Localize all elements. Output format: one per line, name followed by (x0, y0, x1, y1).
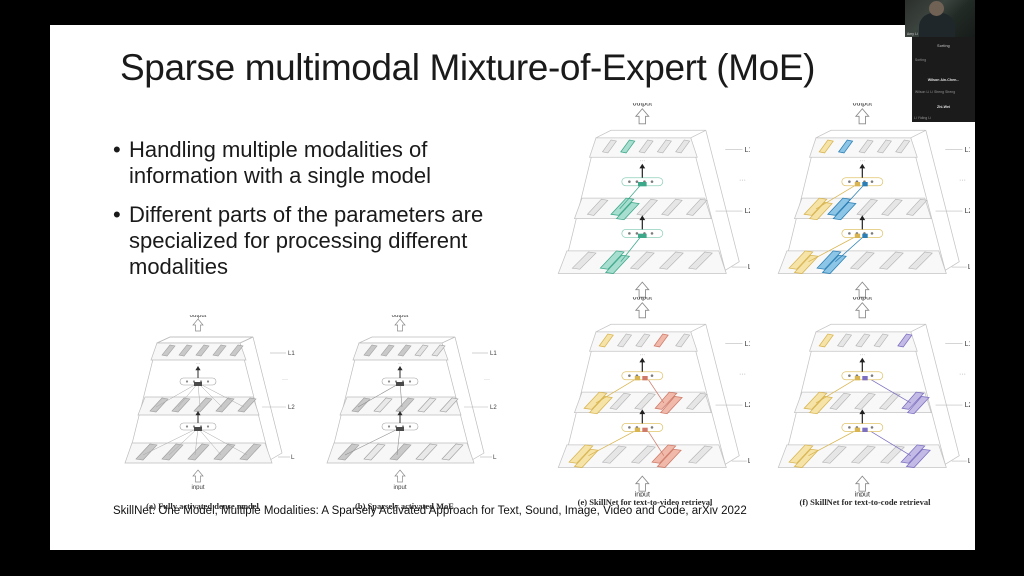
figure-d-svg: ··· output L12 L2 L1 ··· (760, 103, 970, 303)
figure-c-label-l1: L1 (748, 264, 750, 271)
figure-b-output-label: output (392, 315, 409, 319)
participant-list-panel[interactable]: Sorting Sorting Wilson Ain-Chen... Wilso… (912, 37, 975, 122)
figure-f-label-l1: L1 (968, 458, 970, 465)
figure-c-output-label: output (633, 103, 653, 108)
bullet-text: Handling multiple modalities of informat… (129, 137, 533, 189)
bullet-item: • Different parts of the parameters are … (113, 202, 533, 280)
figure-f-text-to-code: ··· output input L12 L2 L1 ··· (f) Skill… (760, 297, 970, 512)
figure-f-label-l12: L12 (965, 341, 970, 348)
figure-e-caption: (e) SkillNet for text-to-video retrieval (540, 497, 750, 507)
presentation-slide: Sparse multimodal Mixture-of-Expert (MoE… (50, 25, 975, 550)
figure-b-label-l2: L2 (490, 405, 497, 411)
webcam-person-body (919, 13, 955, 37)
screen-root: Sparse multimodal Mixture-of-Expert (MoE… (0, 0, 1024, 576)
figure-d-label-l12: L12 (965, 147, 970, 154)
figure-a-caption: (a) Fully activated dense model (110, 501, 295, 511)
figure-e-output-label: output (633, 297, 653, 302)
self-view-name-label: Amy Li (907, 32, 918, 36)
figure-d-label-l1: L1 (968, 264, 970, 271)
inner-ellipsis-f: ··· (859, 353, 865, 359)
figure-d-side-ellipsis: ··· (959, 177, 966, 184)
figure-b-side-ellipsis: ··· (484, 377, 490, 383)
figure-e-side-ellipsis: ··· (739, 371, 746, 378)
participant-row[interactable]: Wilson Ain-Chen... (912, 78, 975, 82)
figure-a-label-l1: L1 (291, 455, 295, 461)
participant-row[interactable]: Wilson Li Li Sheng Sheng (915, 90, 955, 94)
figure-a-label-l12: L12 (288, 351, 295, 357)
figure-d-skillnet-dual: ··· output L12 L2 L1 ··· (760, 103, 970, 303)
figure-c-skillnet-single: ··· output L12 L2 L1 ··· (540, 103, 750, 303)
figure-e-text-to-video: ··· output input L12 L2 L1 ··· (e) Skill… (540, 297, 750, 512)
figure-c-label-l12: L12 (745, 147, 750, 154)
figure-e-label-l12: L12 (745, 341, 750, 348)
figure-e-label-l2: L2 (745, 402, 750, 409)
figure-b-svg: ··· output input L12 L2 L1 ··· (312, 315, 497, 490)
bullet-text: Different parts of the parameters are sp… (129, 202, 533, 280)
figure-b-caption: (b) Sparsely activated MoE (312, 501, 497, 511)
figure-d-label-l2: L2 (965, 208, 970, 215)
self-view-video-tile[interactable]: Amy Li (905, 0, 975, 37)
figure-f-label-l2: L2 (965, 402, 970, 409)
figure-f-side-ellipsis: ··· (959, 371, 966, 378)
figure-f-output-label: output (853, 297, 873, 302)
inner-ellipsis-a: ··· (196, 361, 201, 367)
figure-a-input-label: input (191, 485, 204, 490)
figure-b-label-l12: L12 (490, 351, 497, 357)
participant-row[interactable]: Zhi-Wei (912, 105, 975, 109)
inner-ellipsis-d: ··· (859, 159, 865, 165)
inner-ellipsis-b: ··· (398, 361, 403, 367)
figure-c-label-l2: L2 (745, 208, 750, 215)
bullet-item: • Handling multiple modalities of inform… (113, 137, 533, 189)
participant-row[interactable]: Sorting (915, 58, 926, 62)
figure-e-label-l1: L1 (748, 458, 750, 465)
figure-a-side-ellipsis: ··· (282, 377, 288, 383)
figure-b-sparse-moe: ··· output input L12 L2 L1 ··· (b) Spars… (312, 315, 497, 500)
figure-a-dense-model: ··· output input L12 L2 L1 ··· (110, 315, 295, 500)
figure-d-output-label: output (853, 103, 873, 108)
figure-b-label-l1: L1 (493, 455, 497, 461)
figure-a-label-l2: L2 (288, 405, 295, 411)
slide-title: Sparse multimodal Mixture-of-Expert (MoE… (120, 47, 815, 89)
figure-c-svg: ··· output L12 L2 L1 ··· (540, 103, 750, 303)
webcam-person-head (929, 1, 944, 16)
video-conference-overlay: Amy Li Sorting Sorting Wilson Ain-Chen..… (905, 0, 1024, 122)
inner-ellipsis-c: ··· (639, 159, 645, 165)
bullet-marker-icon: • (113, 137, 129, 163)
figure-e-svg: ··· output input L12 L2 L1 ··· (540, 297, 750, 497)
figure-c-side-ellipsis: ··· (739, 177, 746, 184)
figure-f-svg: ··· output input L12 L2 L1 ··· (760, 297, 970, 497)
bullet-list: • Handling multiple modalities of inform… (113, 137, 533, 293)
figure-f-caption: (f) SkillNet for text-to-code retrieval (760, 497, 970, 507)
participant-row[interactable]: Li Yiding Li (914, 116, 931, 120)
participant-panel-title: Sorting (912, 44, 975, 48)
figure-a-svg: ··· output input L12 L2 L1 ··· (110, 315, 295, 490)
inner-ellipsis-e: ··· (639, 353, 645, 359)
figure-b-input-label: input (393, 485, 406, 490)
figure-a-output-label: output (190, 315, 207, 319)
bullet-marker-icon: • (113, 202, 129, 228)
